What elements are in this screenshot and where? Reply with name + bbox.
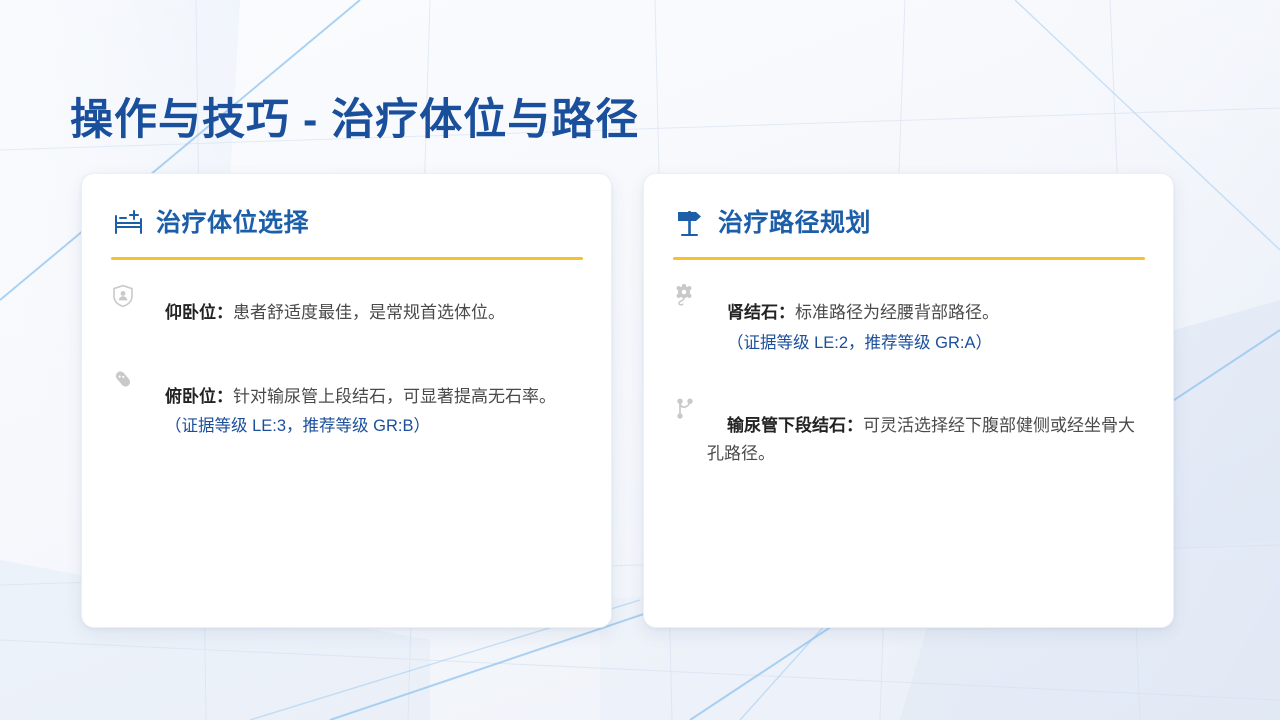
- card-treatment-position: 治疗体位选择 仰卧位：患者舒适度最佳，是常规首选体位。: [81, 173, 612, 628]
- card-accent-rule: [111, 257, 583, 260]
- list-item: 肾结石：标准路径为经腰背部路径。 （证据等级 LE:2，推荐等级 GR:A）: [673, 282, 1145, 373]
- slide-root: 操作与技巧 - 治疗体位与路径: [0, 0, 1280, 720]
- code-branch-icon: [673, 395, 697, 423]
- card-treatment-path: 治疗路径规划: [643, 173, 1174, 628]
- card-body: 仰卧位：患者舒适度最佳，是常规首选体位。: [111, 282, 583, 457]
- list-item-desc: 患者舒适度最佳，是常规首选体位。: [233, 303, 505, 322]
- card-header: 治疗体位选择: [111, 204, 583, 242]
- page-title: 操作与技巧 - 治疗体位与路径: [70, 85, 639, 147]
- list-item-term: 肾结石：: [727, 303, 795, 322]
- evidence-level: （证据等级 LE:3，推荐等级 GR:B）: [145, 413, 583, 440]
- list-item-text: 肾结石：标准路径为经腰背部路径。 （证据等级 LE:2，推荐等级 GR:A）: [707, 299, 1145, 356]
- shield-person-icon: [111, 282, 135, 310]
- signpost-icon: [673, 208, 707, 238]
- capsule-pill-icon: [111, 366, 135, 394]
- card-grid: 治疗体位选择 仰卧位：患者舒适度最佳，是常规首选体位。: [81, 173, 1174, 628]
- list-item: 仰卧位：患者舒适度最佳，是常规首选体位。: [111, 282, 583, 344]
- card-title: 治疗体位选择: [156, 211, 309, 236]
- list-item: 输尿管下段结石：可灵活选择经下腹部健侧或经坐骨大孔路径。: [673, 395, 1145, 484]
- list-item-term: 俯卧位：: [165, 387, 233, 406]
- list-item: 俯卧位：针对输尿管上段结石，可显著提高无石率。 （证据等级 LE:3，推荐等级 …: [111, 366, 583, 457]
- card-header: 治疗路径规划: [673, 204, 1145, 242]
- evidence-level: （证据等级 LE:2，推荐等级 GR:A）: [707, 330, 1145, 357]
- gear-flower-icon: [673, 282, 697, 310]
- list-item-text: 仰卧位：患者舒适度最佳，是常规首选体位。: [145, 299, 583, 327]
- list-item-term: 输尿管下段结石：: [727, 416, 863, 435]
- list-item-desc: 标准路径为经腰背部路径。: [795, 303, 999, 322]
- card-body: 肾结石：标准路径为经腰背部路径。 （证据等级 LE:2，推荐等级 GR:A）: [673, 282, 1145, 484]
- list-item-desc: 针对输尿管上段结石，可显著提高无石率。: [233, 387, 556, 406]
- list-item-text: 输尿管下段结石：可灵活选择经下腹部健侧或经坐骨大孔路径。: [707, 412, 1145, 467]
- card-title: 治疗路径规划: [718, 211, 871, 236]
- list-item-term: 仰卧位：: [165, 303, 233, 322]
- hospital-bed-plus-icon: [111, 208, 145, 238]
- card-accent-rule: [673, 257, 1145, 260]
- list-item-text: 俯卧位：针对输尿管上段结石，可显著提高无石率。 （证据等级 LE:3，推荐等级 …: [145, 383, 583, 440]
